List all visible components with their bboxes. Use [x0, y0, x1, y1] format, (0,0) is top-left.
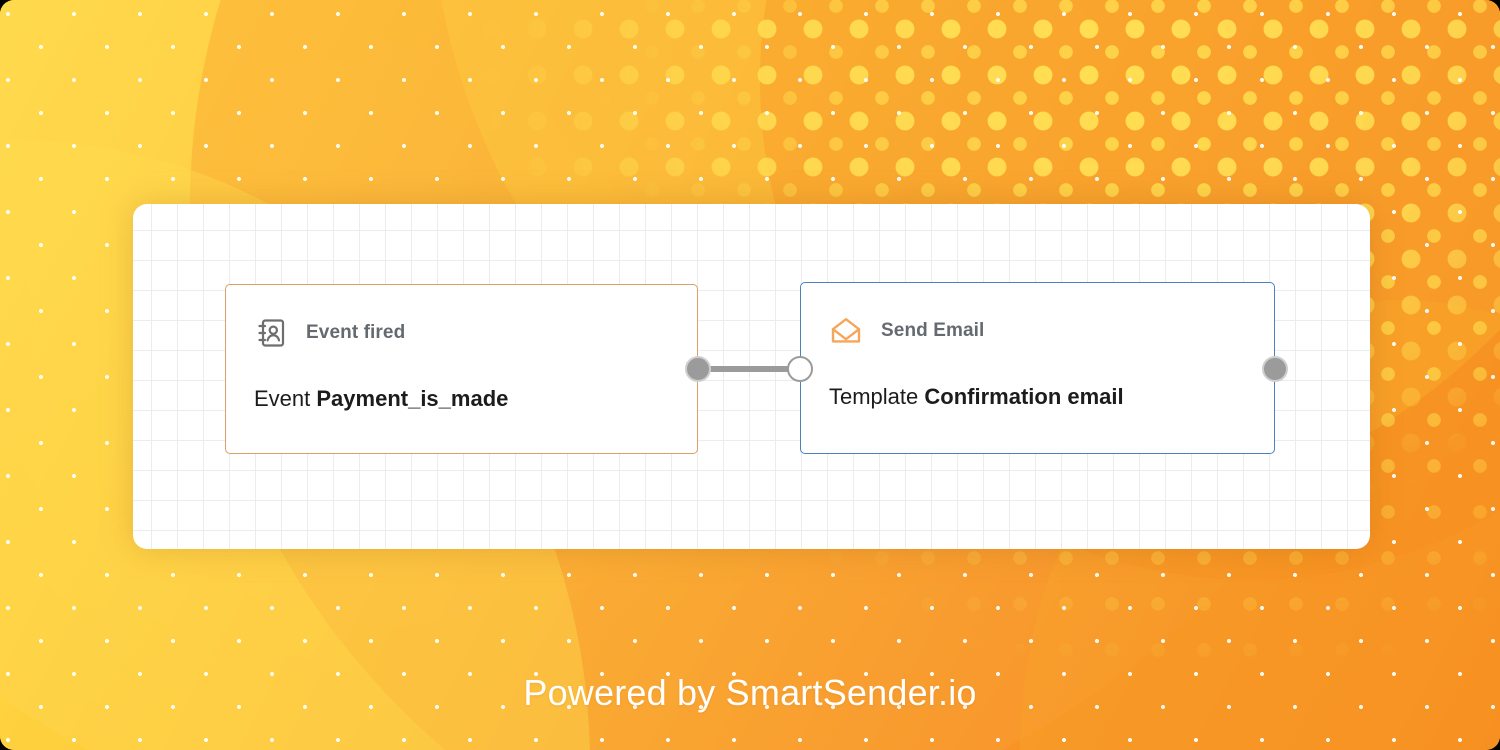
node-title: Send Email — [881, 320, 984, 342]
node-header-event-fired: Event fired — [254, 316, 405, 350]
node-field-label: Template — [829, 384, 924, 409]
node-field-label: Event — [254, 386, 316, 411]
promo-banner: Event fired Event Payment_is_made Send E… — [0, 0, 1500, 750]
node-field-value: Payment_is_made — [316, 386, 508, 411]
node-field-template: Template Confirmation email — [829, 384, 1124, 410]
node-send-email[interactable]: Send Email Template Confirmation email — [800, 282, 1275, 454]
open-envelope-icon — [829, 314, 863, 348]
node-event-fired[interactable]: Event fired Event Payment_is_made — [225, 284, 698, 454]
node-title: Event fired — [306, 322, 405, 344]
workflow-canvas[interactable]: Event fired Event Payment_is_made Send E… — [133, 204, 1370, 549]
footer-branding: Powered by SmartSender.io — [0, 672, 1500, 714]
email-input-port[interactable] — [787, 356, 813, 382]
node-field-event: Event Payment_is_made — [254, 386, 508, 412]
node-header-send-email: Send Email — [829, 314, 984, 348]
address-book-icon — [254, 316, 288, 350]
node-field-value: Confirmation email — [924, 384, 1123, 409]
email-output-port[interactable] — [1262, 356, 1288, 382]
event-output-port[interactable] — [685, 356, 711, 382]
